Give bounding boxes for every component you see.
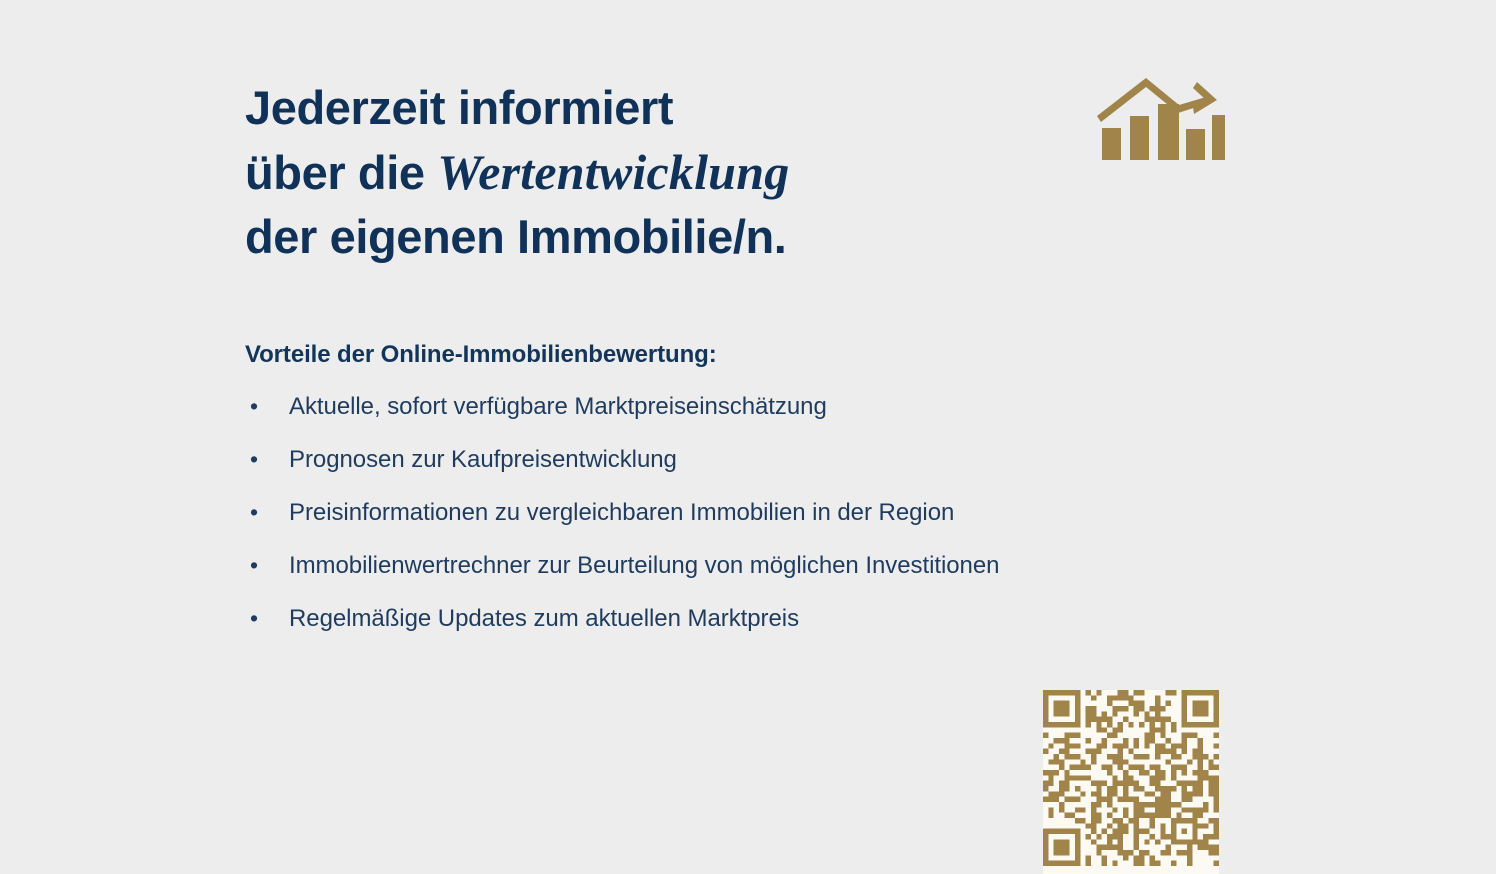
list-item-label: Preisinformationen zu vergleichbaren Imm… xyxy=(289,498,954,528)
benefits-title: Vorteile der Online-Immobilienbewertung: xyxy=(245,338,1245,372)
list-item: • Regelmäßige Updates zum aktuellen Mark… xyxy=(245,603,1245,656)
bullet-icon: • xyxy=(245,444,289,474)
headline-emphasis: Wertentwicklung xyxy=(437,144,789,200)
headline-line-1: Jederzeit informiert xyxy=(245,76,925,140)
bullet-icon: • xyxy=(245,550,289,580)
list-item: • Prognosen zur Kaufpreisentwicklung xyxy=(245,444,1245,497)
list-item: • Aktuelle, sofort verfügbare Marktpreis… xyxy=(245,391,1245,444)
list-item-label: Regelmäßige Updates zum aktuellen Marktp… xyxy=(289,604,799,634)
slide-canvas: Jederzeit informiert über die Wertentwic… xyxy=(0,0,1496,874)
list-item: • Immobilienwertrechner zur Beurteilung … xyxy=(245,550,1245,603)
headline-line-2: über die Wertentwicklung xyxy=(245,140,925,205)
list-item-label: Immobilienwertrechner zur Beurteilung vo… xyxy=(289,551,999,581)
page-title: Jederzeit informiert über die Wertentwic… xyxy=(245,76,925,269)
headline-line-3: der eigenen Immobilie/n. xyxy=(245,205,925,269)
list-item-label: Aktuelle, sofort verfügbare Marktpreisei… xyxy=(289,392,827,422)
benefits-section: Vorteile der Online-Immobilienbewertung:… xyxy=(245,338,1245,656)
list-item: • Preisinformationen zu vergleichbaren I… xyxy=(245,497,1245,550)
bullet-icon: • xyxy=(245,391,289,421)
headline-line-2-prefix: über die xyxy=(245,146,437,199)
benefits-list: • Aktuelle, sofort verfügbare Marktpreis… xyxy=(245,391,1245,656)
qr-code[interactable] xyxy=(1043,690,1219,874)
bar-chart-trend-icon xyxy=(1093,66,1225,162)
list-item-label: Prognosen zur Kaufpreisentwicklung xyxy=(289,445,677,475)
bullet-icon: • xyxy=(245,497,289,527)
bullet-icon: • xyxy=(245,603,289,633)
